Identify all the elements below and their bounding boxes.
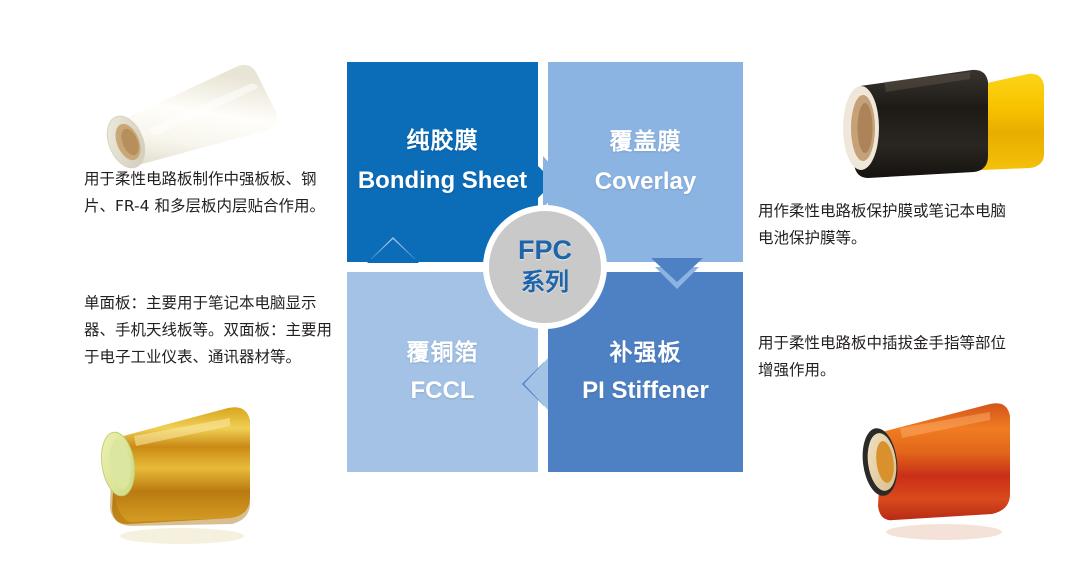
arrow-up-notch-icon	[367, 239, 419, 263]
center-hub-cn: 系列	[521, 269, 569, 298]
quadrant-fccl-en: FCCL	[411, 375, 475, 406]
center-hub[interactable]: FPC 系列	[483, 205, 607, 329]
quadrant-fccl-cn: 覆铜箔	[407, 338, 479, 367]
white-film-roll-icon	[80, 58, 280, 173]
photo-coverlay-rolls	[832, 62, 1047, 187]
caption-bonding-sheet: 用于柔性电路板制作中强板板、钢片、FR-4 和多层板内层贴合作用。	[84, 166, 336, 220]
photo-fccl-roll	[78, 402, 303, 557]
caption-fccl: 单面板：主要用于笔记本电脑显示器、手机天线板等。双面板：主要用于电子工业仪表、通…	[84, 290, 338, 371]
black-yellow-film-rolls-icon	[832, 62, 1047, 187]
arrow-right-notch-icon	[543, 156, 567, 208]
arrow-left-notch-icon	[524, 358, 548, 410]
caption-pi-stiffener: 用于柔性电路板中插拔金手指等部位增强作用。	[758, 330, 1014, 384]
quadrant-coverlay-cn: 覆盖膜	[610, 127, 682, 156]
center-hub-en: FPC	[518, 236, 572, 266]
quadrant-pi-stiffener-en: PI Stiffener	[582, 375, 709, 406]
arrow-down-notch-icon	[651, 258, 703, 282]
quadrant-bonding-sheet-en: Bonding Sheet	[358, 165, 527, 197]
caption-coverlay: 用作柔性电路板保护膜或笔记本电脑电池保护膜等。	[758, 198, 1014, 252]
quadrant-bonding-sheet-cn: 纯胶膜	[407, 126, 479, 155]
infographic-canvas: 用于柔性电路板制作中强板板、钢片、FR-4 和多层板内层贴合作用。 单面板：主要…	[0, 0, 1080, 584]
golden-film-roll-icon	[78, 402, 303, 557]
copper-foil-roll-icon	[842, 398, 1062, 553]
quadrant-coverlay-en: Coverlay	[595, 166, 696, 197]
fpc-quadrant-matrix: 纯胶膜 Bonding Sheet 覆盖膜 Coverlay 覆铜箔 FCCL …	[347, 62, 743, 472]
photo-bonding-sheet-roll	[80, 58, 280, 173]
photo-pi-stiffener-roll	[842, 398, 1062, 553]
quadrant-pi-stiffener-cn: 补强板	[610, 338, 682, 367]
